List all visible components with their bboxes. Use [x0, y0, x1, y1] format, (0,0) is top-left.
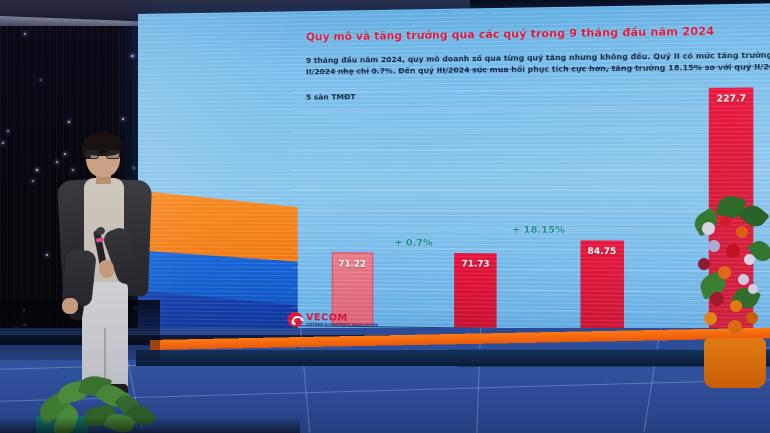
flower-bloom: [702, 222, 715, 235]
flower-bloom: [748, 284, 758, 294]
flower-bloom: [718, 266, 731, 279]
vecom-logo: VECOM VIETNAM E-COMMERCE ASSOCIATION: [287, 312, 378, 328]
flower-bloom: [710, 292, 724, 306]
star-light: [7, 130, 9, 132]
vecom-circle-icon: [287, 312, 302, 327]
presenter: [52, 132, 170, 402]
flower-bloom: [708, 240, 720, 252]
led-presentation-screen: Quy mô và tăng trưởng qua các quý trong …: [138, 3, 770, 366]
eyeglasses-icon: [84, 150, 122, 159]
floor-grid-line: [644, 328, 661, 432]
flower-bloom: [704, 312, 717, 325]
slide-canvas: Quy mô và tăng trưởng qua các quý trong …: [138, 3, 770, 366]
star-light: [131, 55, 133, 57]
flower-bloom: [738, 274, 749, 285]
presentation-photo-scene: Quy mô và tăng trưởng qua các quý trong …: [0, 0, 770, 433]
flower-bloom: [698, 258, 710, 270]
star-light: [32, 180, 34, 182]
flower-bloom: [744, 254, 755, 265]
foreground-shadow: [0, 417, 300, 433]
eyeglass-bridge: [99, 154, 106, 155]
eyeglass-lens-right: [106, 150, 120, 159]
chart-bar-value: 71.22: [333, 259, 372, 270]
flower-bloom: [728, 320, 742, 334]
flower-bloom: [736, 226, 748, 238]
star-light: [68, 121, 70, 123]
chart-growth-annotation: + 0.7%: [384, 237, 443, 249]
floral-arrangement: [690, 196, 770, 386]
star-light: [133, 55, 135, 57]
flower-bloom: [726, 244, 740, 258]
chart-gridline: [292, 149, 770, 152]
star-light: [122, 118, 124, 120]
flower-vase: [704, 338, 766, 388]
screen-bezel: [136, 349, 770, 366]
star-light: [40, 79, 42, 81]
chart-bar-value: 84.75: [580, 245, 624, 256]
chart-gridline: [292, 108, 770, 113]
chart-gridline: [292, 128, 770, 132]
slide-title: Quy mô và tăng trưởng qua các quý trong …: [306, 25, 770, 43]
star-light: [2, 142, 4, 144]
slide-body-text: 9 tháng đầu năm 2024, quy mô doanh số qu…: [306, 49, 770, 77]
flower-bloom: [746, 312, 758, 324]
vecom-logo-subtitle: VIETNAM E-COMMERCE ASSOCIATION: [306, 323, 378, 327]
chart-bar-value: 227.7: [709, 93, 754, 104]
eyeglass-lens-left: [85, 150, 99, 159]
slide-source-note: 5 sàn TMĐT: [306, 92, 356, 102]
flower-bloom: [730, 300, 742, 312]
chart-bar: 71.73: [454, 253, 497, 328]
flower-bloom: [720, 216, 731, 227]
chart-bar: 84.75: [580, 240, 624, 330]
chart-gridline: [292, 189, 770, 190]
chart-gridline: [292, 169, 770, 171]
star-light: [46, 254, 48, 256]
chart-gridline: [292, 87, 770, 93]
chart-growth-annotation: + 18.15%: [508, 224, 568, 236]
star-light: [24, 33, 26, 35]
presenter-hand-left: [62, 298, 78, 314]
star-light: [36, 169, 38, 171]
chart-bar-value: 71.73: [454, 258, 497, 269]
